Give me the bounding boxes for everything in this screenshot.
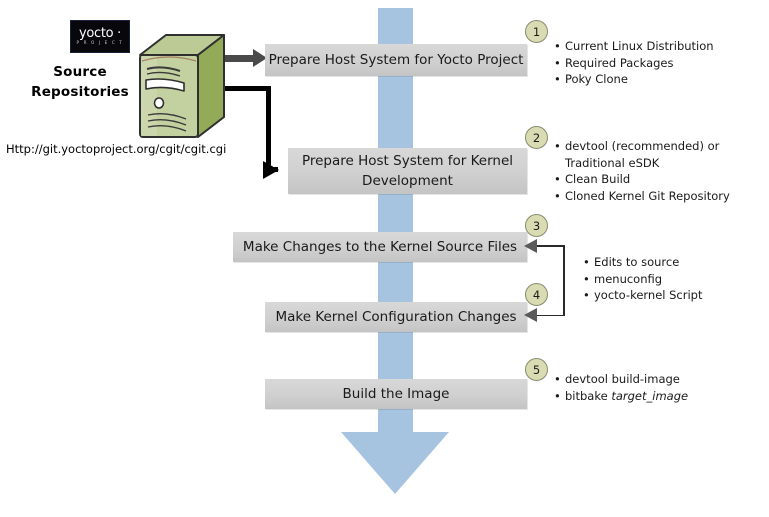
server-icon xyxy=(136,33,228,141)
main-flow-arrow-head xyxy=(341,432,449,494)
source-label-line2: Repositories xyxy=(20,82,140,102)
connector-server-to-box2-segment-v xyxy=(266,86,271,172)
feedback-bracket-top-segment xyxy=(535,245,564,247)
feedback-bracket-vertical xyxy=(563,245,565,316)
source-label-line1: Source xyxy=(20,62,140,82)
step-notes-2: devtool (recommended) or Traditional eSD… xyxy=(551,138,765,204)
connector-server-to-box2-segment-h1 xyxy=(225,86,271,91)
note-item: Required Packages xyxy=(565,55,765,72)
source-repository-url: Http://git.yoctoproject.org/cgit/cgit.cg… xyxy=(6,142,226,156)
feedback-bracket-bottom-segment xyxy=(535,315,564,317)
yocto-project-logo: yocto · P R O J E C T xyxy=(70,20,130,53)
note-item: bitbake target_image xyxy=(565,388,765,405)
connector-server-to-box2-arrowhead xyxy=(263,161,279,179)
note-item: Current Linux Distribution xyxy=(565,38,765,55)
step-number-badge-1: 1 xyxy=(525,20,548,43)
note-item: Poky Clone xyxy=(565,71,765,88)
feedback-bracket-bottom-arrowhead xyxy=(524,308,537,322)
step-number-badge-3: 3 xyxy=(525,214,548,237)
note-item: menuconfig xyxy=(594,271,760,288)
source-repositories-label: Source Repositories xyxy=(20,62,140,102)
note-item: Edits to source xyxy=(594,254,760,271)
diagram-canvas: yocto · P R O J E C T Source Repositorie… xyxy=(0,0,769,517)
step-number-badge-5: 5 xyxy=(525,358,548,381)
step-number-badge-2: 2 xyxy=(525,126,548,149)
logo-subtitle: P R O J E C T xyxy=(77,40,124,46)
step-number-badge-4: 4 xyxy=(525,283,548,306)
process-box-make-kernel-source-changes[interactable]: Make Changes to the Kernel Source Files xyxy=(233,232,527,262)
process-box-prepare-host-yocto[interactable]: Prepare Host System for Yocto Project xyxy=(265,44,527,76)
process-box-build-the-image[interactable]: Build the Image xyxy=(265,379,527,409)
note-item: Clean Build xyxy=(565,171,765,188)
process-box-make-kernel-config-changes[interactable]: Make Kernel Configuration Changes xyxy=(265,302,527,332)
note-italic-token: target_image xyxy=(611,389,688,403)
note-item: devtool (recommended) or Traditional eSD… xyxy=(565,138,765,171)
note-item: devtool build-image xyxy=(565,371,765,388)
note-item: yocto-kernel Script xyxy=(594,287,760,304)
note-item: Cloned Kernel Git Repository xyxy=(565,188,765,205)
feedback-bracket-top-arrowhead xyxy=(524,239,537,253)
process-box-prepare-host-kernel[interactable]: Prepare Host System for Kernel Developme… xyxy=(288,148,527,194)
step-notes-4: Edits to source menuconfig yocto-kernel … xyxy=(580,254,760,304)
logo-wordmark: yocto · xyxy=(79,27,121,40)
step-notes-5: devtool build-image bitbake target_image xyxy=(551,371,765,404)
connector-server-to-box1-line xyxy=(225,55,255,62)
step-notes-1: Current Linux Distribution Required Pack… xyxy=(551,38,765,88)
